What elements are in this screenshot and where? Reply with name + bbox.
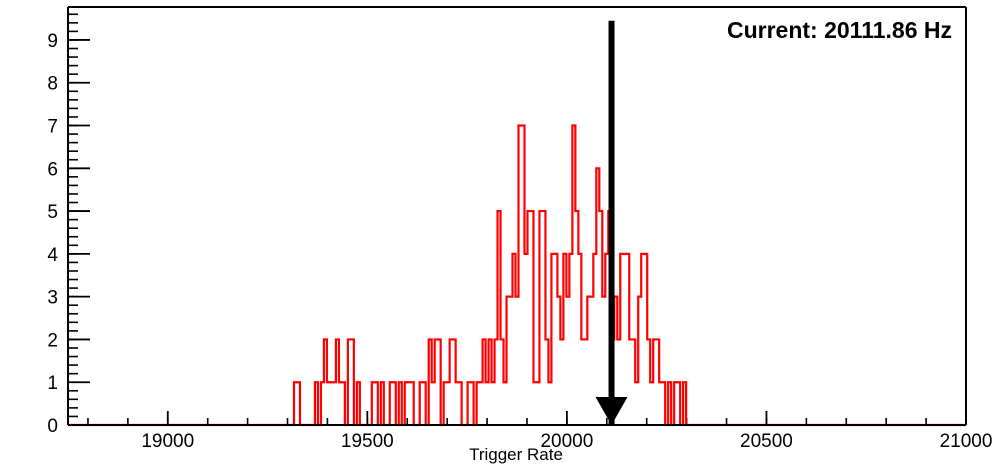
x-tick-label: 21000 bbox=[940, 431, 993, 452]
y-tick-label: 0 bbox=[47, 416, 58, 437]
y-tick-label: 4 bbox=[47, 245, 58, 266]
y-tick-label: 2 bbox=[47, 330, 58, 351]
x-tick-label: 19000 bbox=[141, 431, 194, 452]
x-tick-label: 19500 bbox=[341, 431, 394, 452]
histogram-plot: 0123456789 1900019500200002050021000 Tri… bbox=[0, 0, 996, 472]
y-tick-label: 3 bbox=[47, 288, 58, 309]
trigger-rate-histogram-panel: 0123456789 1900019500200002050021000 Tri… bbox=[0, 0, 996, 472]
y-tick-label: 6 bbox=[47, 159, 58, 180]
x-axis-title: Trigger Rate bbox=[469, 445, 563, 464]
x-tick-label: 20500 bbox=[740, 431, 793, 452]
y-tick-label: 9 bbox=[47, 31, 58, 52]
current-value-readout: Current: 20111.86 Hz bbox=[727, 17, 952, 43]
y-tick-label: 5 bbox=[47, 202, 58, 223]
y-tick-label: 7 bbox=[47, 117, 58, 138]
y-tick-label: 1 bbox=[47, 373, 58, 394]
y-tick-label: 8 bbox=[47, 74, 58, 95]
